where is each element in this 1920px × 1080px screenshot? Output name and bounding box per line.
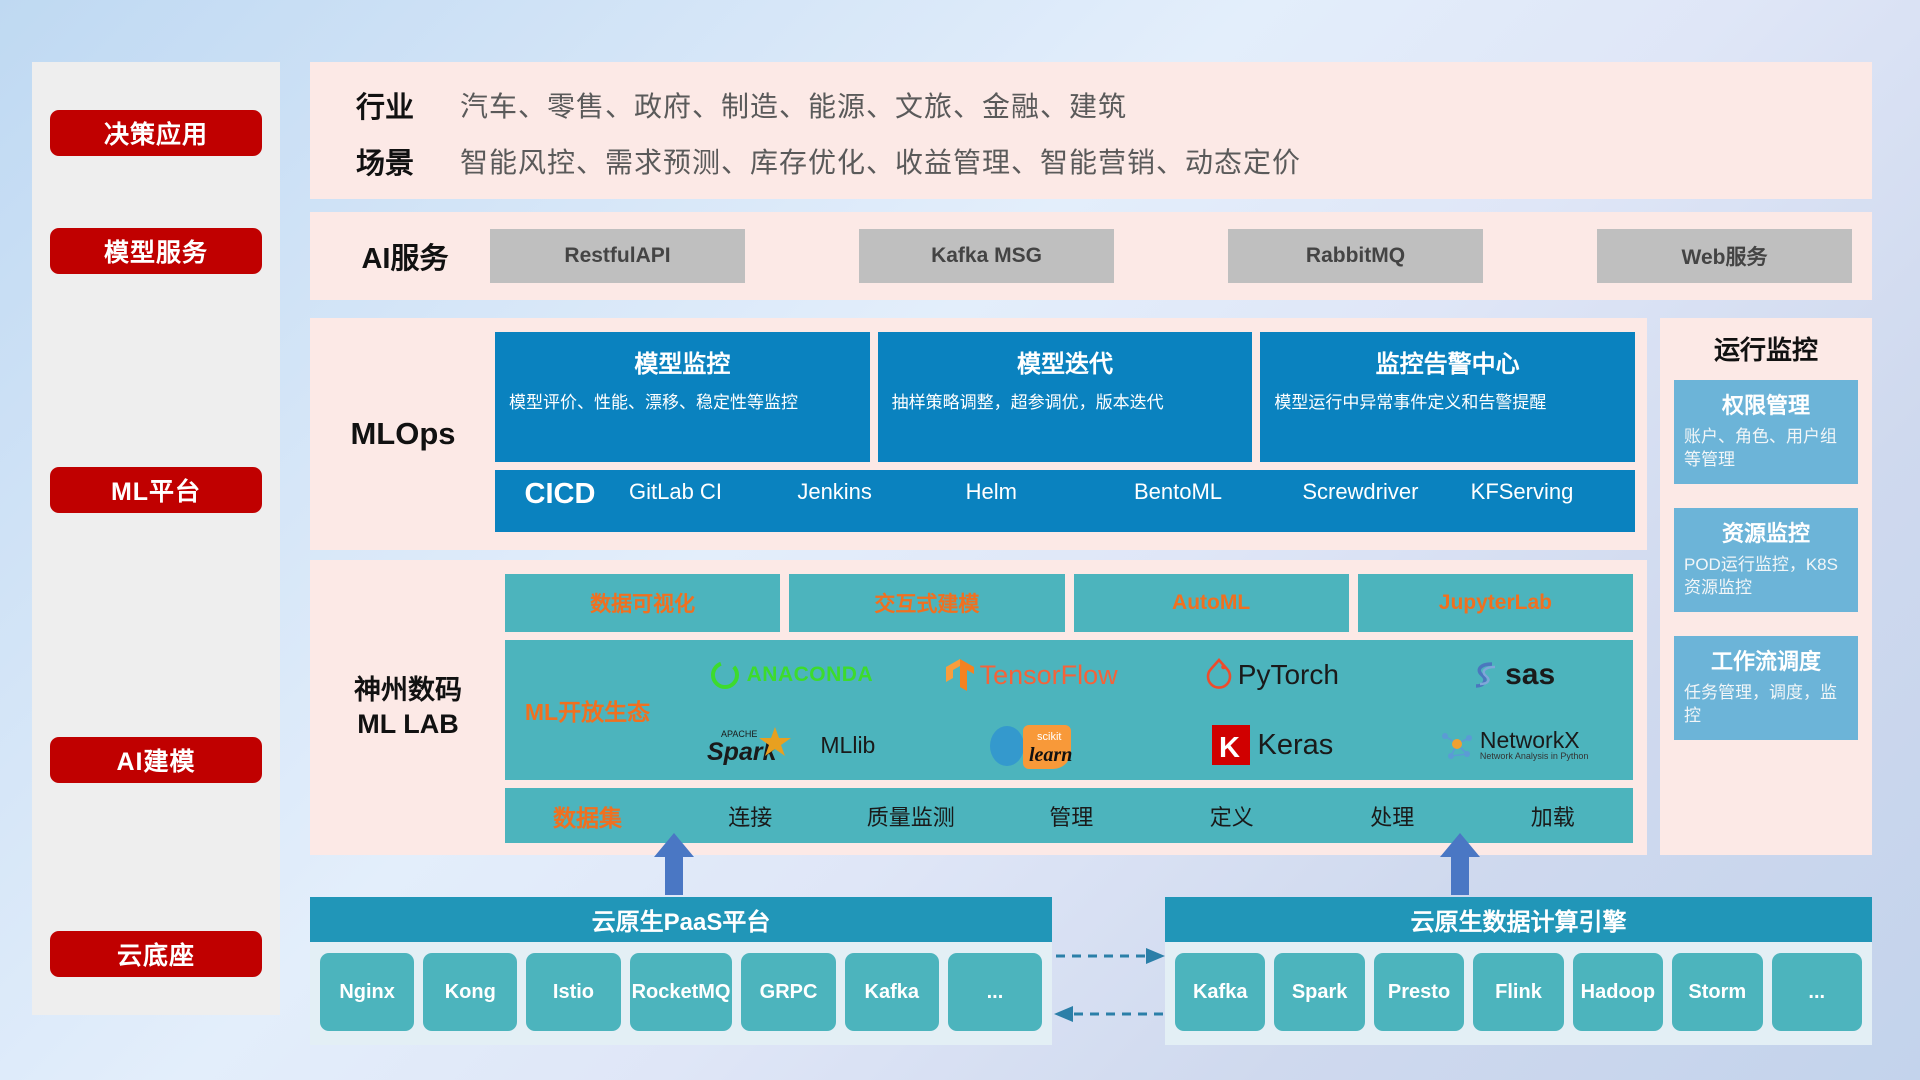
lab-tool-interactive-modeling[interactable]: 交互式建模 xyxy=(789,574,1064,632)
up-arrow-left-icon xyxy=(652,833,696,895)
scenario-value: 智能风控、需求预测、库存优化、收益管理、智能营销、动态定价 xyxy=(460,141,1301,181)
card-desc: 模型评价、性能、漂移、稳定性等监控 xyxy=(509,391,856,414)
dataset-item-quality-monitor[interactable]: 质量监测 xyxy=(831,800,992,832)
monitoring-card-list: 权限管理 账户、角色、用户组等管理 资源监控 POD运行监控，K8S资源监控 工… xyxy=(1674,380,1858,764)
cicd-bar: CICD GitLab CI Jenkins Helm BentoML Scre… xyxy=(495,470,1635,532)
cloud-compute-title: 云原生数据计算引擎 xyxy=(1165,897,1872,942)
business-panel: 行业 汽车、零售、政府、制造、能源、文旅、金融、建筑 场景 智能风控、需求预测、… xyxy=(310,62,1872,199)
cloud-chip-nginx[interactable]: Nginx xyxy=(320,953,414,1031)
cloud-chip-kafka-right[interactable]: Kafka xyxy=(1175,953,1265,1031)
cloud-chip-more-left[interactable]: ... xyxy=(948,953,1042,1031)
left-rail: 决策应用 模型服务 ML平台 AI建模 xyxy=(32,62,280,1015)
cloud-paas-chip-list: Nginx Kong Istio RocketMQ GRPC Kafka ... xyxy=(320,953,1042,1031)
ai-service-chip-web-service[interactable]: Web服务 xyxy=(1597,229,1852,283)
scenario-label: 场景 xyxy=(310,140,460,182)
card-desc: 抽样策略调整，超参调优，版本迭代 xyxy=(892,391,1239,414)
networkx-logo-tagline: Network Analysis in Python xyxy=(1480,752,1589,761)
networkx-logo: NetworkX Network Analysis in Python xyxy=(1437,726,1589,764)
scikit-learn-logo: scikit learn xyxy=(981,719,1081,771)
mlops-panel: MLOps 模型监控 模型评价、性能、漂移、稳定性等监控 模型迭代 抽样策略调整… xyxy=(310,318,1647,550)
networkx-logo-text: NetworkX xyxy=(1480,728,1589,752)
card-title: 监控告警中心 xyxy=(1274,344,1621,379)
mlops-label: MLOps xyxy=(318,318,488,550)
lab-tool-data-visualization[interactable]: 数据可视化 xyxy=(505,574,780,632)
ai-lab-label-line1: 神州数码 xyxy=(354,674,462,708)
dataset-item-manage[interactable]: 管理 xyxy=(991,800,1152,832)
cicd-item-helm[interactable]: Helm xyxy=(962,478,1130,506)
card-title: 模型监控 xyxy=(509,344,856,379)
dataset-item-define[interactable]: 定义 xyxy=(1152,800,1313,832)
card-title: 工作流调度 xyxy=(1684,644,1848,676)
sas-logo-text: sas xyxy=(1505,658,1555,692)
card-desc: POD运行监控，K8S资源监控 xyxy=(1684,554,1848,600)
cloud-chip-rocketmq[interactable]: RocketMQ xyxy=(630,953,733,1031)
ai-lab-label-line2: ML LAB xyxy=(357,708,459,742)
ai-lab-panel: 神州数码 ML LAB 数据可视化 交互式建模 AutoML JupyterLa… xyxy=(310,560,1647,855)
lab-tool-jupyterlab[interactable]: JupyterLab xyxy=(1358,574,1633,632)
monitoring-title: 运行监控 xyxy=(1660,330,1872,367)
cicd-item-gitlab-ci[interactable]: GitLab CI xyxy=(625,478,793,506)
dataset-label: 数据集 xyxy=(505,799,670,833)
cicd-item-jenkins[interactable]: Jenkins xyxy=(793,478,961,506)
ai-lab-label: 神州数码 ML LAB xyxy=(318,560,498,855)
ai-service-panel: AI服务 RestfulAPI Kafka MSG RabbitMQ Web服务 xyxy=(310,212,1872,300)
monitoring-card-resource[interactable]: 资源监控 POD运行监控，K8S资源监控 xyxy=(1674,508,1858,612)
spark-mllib-logo: APACHE Spark MLlib xyxy=(705,723,875,767)
up-arrow-right-icon xyxy=(1438,833,1482,895)
card-desc: 任务管理，调度，监控 xyxy=(1684,682,1848,728)
bidirectional-dashed-connector xyxy=(1052,940,1167,1032)
keras-logo-text: Keras xyxy=(1257,729,1333,762)
cloud-chip-istio[interactable]: Istio xyxy=(526,953,620,1031)
cicd-item-screwdriver[interactable]: Screwdriver xyxy=(1298,478,1466,506)
mlops-card-model-monitoring[interactable]: 模型监控 模型评价、性能、漂移、稳定性等监控 xyxy=(495,332,870,462)
cloud-chip-hadoop[interactable]: Hadoop xyxy=(1573,953,1663,1031)
cloud-chip-grpc[interactable]: GRPC xyxy=(741,953,835,1031)
ml-ecosystem-logo-grid: ANACONDA TensorFlow PyTorch xyxy=(670,640,1633,780)
ai-lab-tool-list: 数据可视化 交互式建模 AutoML JupyterLab xyxy=(505,574,1633,632)
business-row-industry: 行业 汽车、零售、政府、制造、能源、文旅、金融、建筑 xyxy=(310,74,1872,136)
svg-text:learn: learn xyxy=(1029,744,1072,766)
dataset-item-connect[interactable]: 连接 xyxy=(670,800,831,832)
pytorch-logo: PyTorch xyxy=(1205,658,1339,692)
ml-ecosystem-label: ML开放生态 xyxy=(505,693,670,727)
cloud-chip-kong[interactable]: Kong xyxy=(423,953,517,1031)
mlops-card-list: 模型监控 模型评价、性能、漂移、稳定性等监控 模型迭代 抽样策略调整，超参调优，… xyxy=(495,332,1635,462)
monitoring-panel: 运行监控 权限管理 账户、角色、用户组等管理 资源监控 POD运行监控，K8S资… xyxy=(1660,318,1872,855)
sas-logo: sas xyxy=(1470,658,1555,692)
cloud-compute-panel: 云原生数据计算引擎 Kafka Spark Presto Flink Hadoo… xyxy=(1165,897,1872,1045)
mlops-card-model-iteration[interactable]: 模型迭代 抽样策略调整，超参调优，版本迭代 xyxy=(878,332,1253,462)
rail-item-ml-platform[interactable]: ML平台 xyxy=(50,467,262,513)
ai-service-chip-restfulapi[interactable]: RestfulAPI xyxy=(490,229,745,283)
pytorch-logo-text: PyTorch xyxy=(1238,659,1339,691)
cloud-paas-panel: 云原生PaaS平台 Nginx Kong Istio RocketMQ GRPC… xyxy=(310,897,1052,1045)
cloud-chip-spark[interactable]: Spark xyxy=(1274,953,1364,1031)
cicd-item-kfserving[interactable]: KFServing xyxy=(1467,478,1635,506)
keras-logo: K Keras xyxy=(1210,723,1333,767)
cloud-chip-presto[interactable]: Presto xyxy=(1374,953,1464,1031)
ai-service-chip-list: RestfulAPI Kafka MSG RabbitMQ Web服务 xyxy=(490,229,1852,283)
rail-item-decision-app[interactable]: 决策应用 xyxy=(50,110,262,156)
card-title: 资源监控 xyxy=(1684,516,1848,548)
anaconda-logo-text: ANACONDA xyxy=(747,663,874,687)
cicd-title: CICD xyxy=(495,478,625,511)
cloud-paas-title: 云原生PaaS平台 xyxy=(310,897,1052,942)
ai-service-chip-kafka-msg[interactable]: Kafka MSG xyxy=(859,229,1114,283)
rail-item-cloud-base[interactable]: 云底座 xyxy=(50,931,262,977)
ml-ecosystem-row: ML开放生态 ANACONDA TensorFlow xyxy=(505,640,1633,780)
mllib-logo-text: MLlib xyxy=(820,732,875,759)
monitoring-card-workflow[interactable]: 工作流调度 任务管理，调度，监控 xyxy=(1674,636,1858,740)
card-desc: 模型运行中异常事件定义和告警提醒 xyxy=(1274,391,1621,414)
rail-item-model-service[interactable]: 模型服务 xyxy=(50,228,262,274)
tensorflow-logo: TensorFlow xyxy=(945,657,1118,693)
lab-tool-automl[interactable]: AutoML xyxy=(1074,574,1349,632)
svg-text:K: K xyxy=(1219,732,1240,764)
card-desc: 账户、角色、用户组等管理 xyxy=(1684,426,1848,472)
anaconda-logo: ANACONDA xyxy=(708,658,874,692)
industry-label: 行业 xyxy=(310,84,460,126)
mlops-card-alert-center[interactable]: 监控告警中心 模型运行中异常事件定义和告警提醒 xyxy=(1260,332,1635,462)
dataset-item-process[interactable]: 处理 xyxy=(1312,800,1473,832)
ai-service-chip-rabbitmq[interactable]: RabbitMQ xyxy=(1228,229,1483,283)
card-title: 权限管理 xyxy=(1684,388,1848,420)
ai-service-label: AI服务 xyxy=(330,212,480,300)
tensorflow-logo-text: TensorFlow xyxy=(980,660,1118,691)
business-row-scenario: 场景 智能风控、需求预测、库存优化、收益管理、智能营销、动态定价 xyxy=(310,130,1872,192)
cloud-chip-kafka[interactable]: Kafka xyxy=(845,953,939,1031)
industry-value: 汽车、零售、政府、制造、能源、文旅、金融、建筑 xyxy=(460,85,1127,125)
cloud-chip-storm[interactable]: Storm xyxy=(1672,953,1762,1031)
cloud-compute-chip-list: Kafka Spark Presto Flink Hadoop Storm ..… xyxy=(1175,953,1862,1031)
monitoring-card-permission[interactable]: 权限管理 账户、角色、用户组等管理 xyxy=(1674,380,1858,484)
cloud-chip-flink[interactable]: Flink xyxy=(1473,953,1563,1031)
cicd-item-bentoml[interactable]: BentoML xyxy=(1130,478,1298,506)
cloud-chip-more-right[interactable]: ... xyxy=(1772,953,1862,1031)
card-title: 模型迭代 xyxy=(892,344,1239,379)
rail-item-ai-modeling[interactable]: AI建模 xyxy=(50,737,262,783)
dataset-item-load[interactable]: 加载 xyxy=(1473,800,1634,832)
svg-text:scikit: scikit xyxy=(1037,731,1061,743)
